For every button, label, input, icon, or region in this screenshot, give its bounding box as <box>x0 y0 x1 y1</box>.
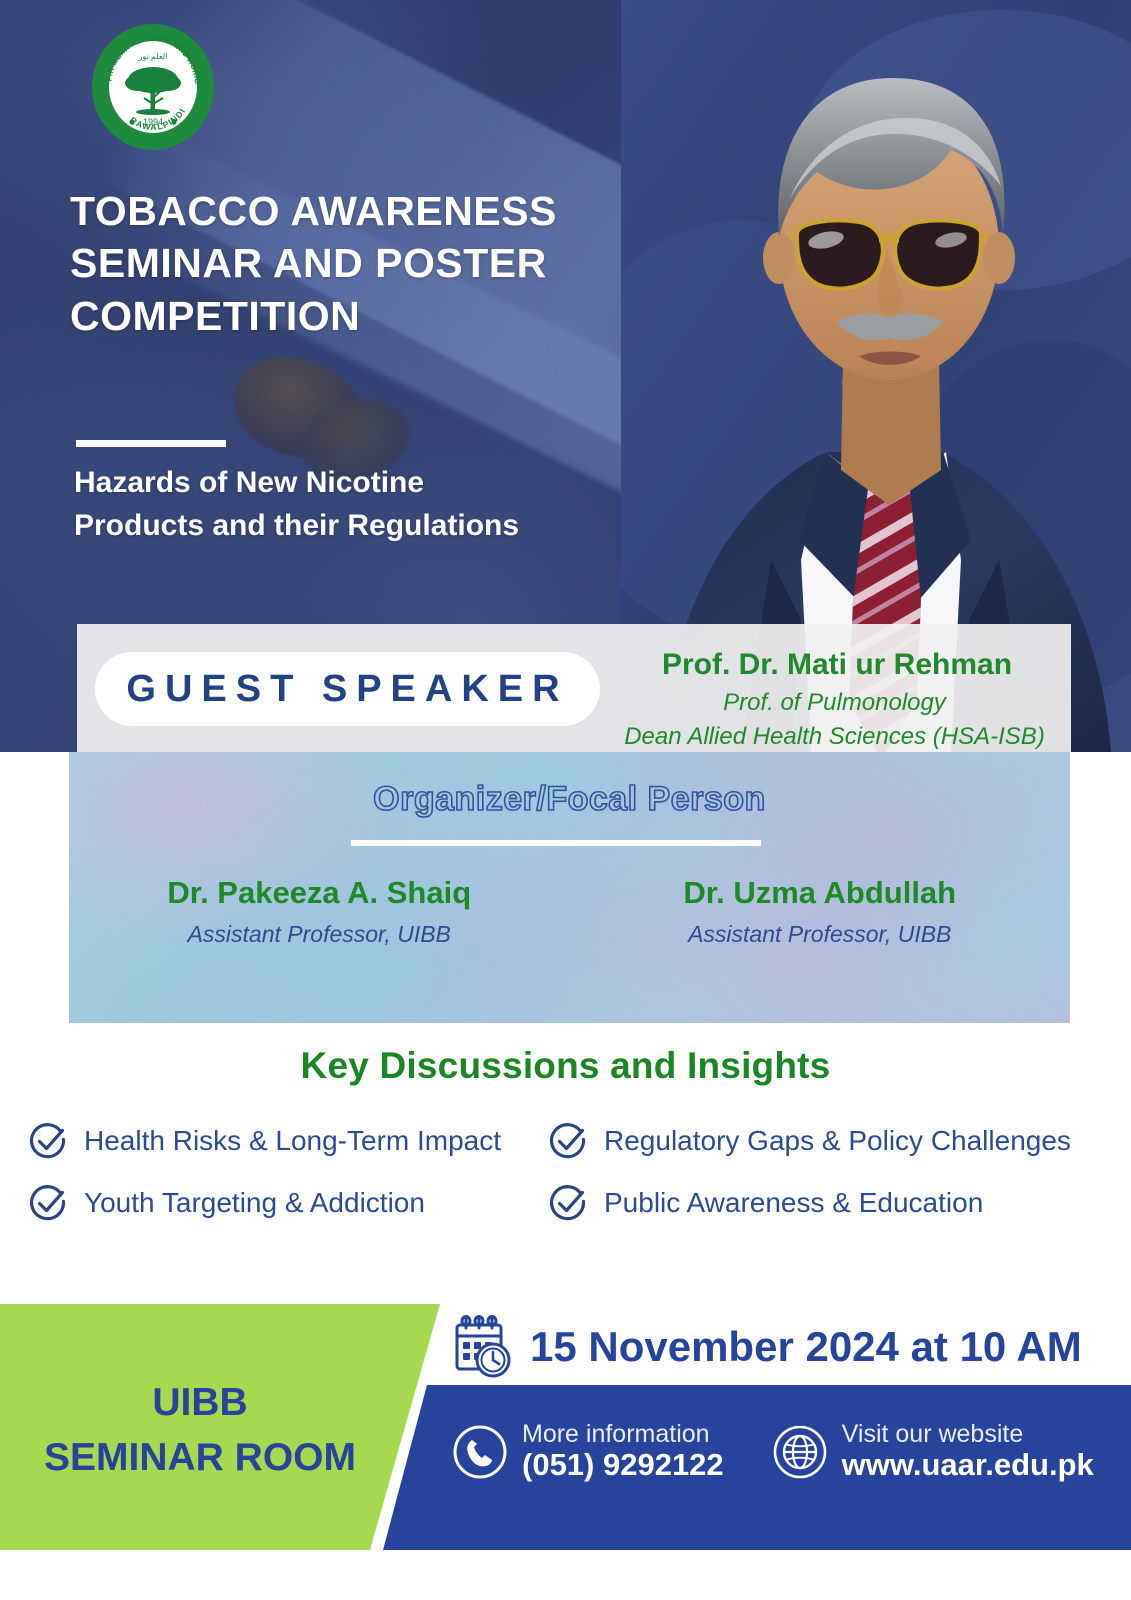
list-item-label: Youth Targeting & Addiction <box>84 1187 425 1219</box>
event-datetime: 15 November 2024 at 10 AM <box>452 1314 1082 1380</box>
key-discussions-section: Key Discussions and Insights Health Risk… <box>0 1045 1131 1223</box>
organizer-name: Dr. Uzma Abdullah <box>570 874 1071 913</box>
guest-speaker-role-line2: Dean Allied Health Sciences (HSA-ISB) <box>607 720 1062 752</box>
organizer-section-title: Organizer/Focal Person <box>69 780 1070 819</box>
list-item: Youth Targeting & Addiction <box>0 1183 520 1223</box>
contact-phone-text: More information (051) 9292122 <box>522 1421 724 1483</box>
list-item-label: Regulatory Gaps & Policy Challenges <box>604 1125 1071 1157</box>
list-item: Regulatory Gaps & Policy Challenges <box>520 1121 1110 1161</box>
list-item: Public Awareness & Education <box>520 1183 1110 1223</box>
organizer-divider <box>351 840 761 846</box>
footer-section: UIBB SEMINAR ROOM <box>0 1304 1131 1600</box>
event-datetime-text: 15 November 2024 at 10 AM <box>530 1323 1082 1371</box>
venue-line2: SEMINAR ROOM <box>0 1431 400 1486</box>
check-circle-icon <box>28 1183 68 1223</box>
venue-text: UIBB SEMINAR ROOM <box>0 1376 400 1485</box>
globe-circle-icon <box>772 1424 828 1480</box>
logo-seal-icon: PIR MEHR ALI SHAH ARID AGRICULTURE UNIVE… <box>92 24 214 150</box>
svg-text:العلم نور: العلم نور <box>138 52 168 61</box>
check-circle-icon <box>548 1121 588 1161</box>
organizer-item: Dr. Uzma Abdullah Assistant Professor, U… <box>570 874 1071 948</box>
list-item: Health Risks & Long-Term Impact <box>0 1121 520 1161</box>
page-title: TOBACCO AWARENESS SEMINAR AND POSTER COM… <box>70 185 630 342</box>
check-circle-icon <box>28 1121 68 1161</box>
organizer-item: Dr. Pakeeza A. Shaiq Assistant Professor… <box>69 874 570 948</box>
guest-speaker-role: Prof. of Pulmonology Dean Allied Health … <box>607 686 1062 752</box>
page-subtitle: Hazards of New Nicotine Products and the… <box>74 462 554 547</box>
guest-speaker-role-line1: Prof. of Pulmonology <box>607 686 1062 720</box>
contact-website[interactable]: Visit our website www.uaar.edu.pk <box>772 1421 1094 1483</box>
svg-text:1994: 1994 <box>143 117 163 127</box>
organizer-designation: Assistant Professor, UIBB <box>69 921 570 948</box>
organizer-section: Organizer/Focal Person Dr. Pakeeza A. Sh… <box>69 752 1070 1023</box>
contact-phone-label: More information <box>522 1420 710 1448</box>
contact-website-text: Visit our website www.uaar.edu.pk <box>842 1421 1094 1483</box>
key-discussions-list: Health Risks & Long-Term Impact Regulato… <box>0 1121 1131 1223</box>
guest-speaker-name: Prof. Dr. Mati ur Rehman <box>617 648 1057 682</box>
guest-speaker-band: GUEST SPEAKER Prof. Dr. Mati ur Rehman P… <box>77 624 1071 752</box>
check-circle-icon <box>548 1183 588 1223</box>
key-discussions-title: Key Discussions and Insights <box>0 1045 1131 1087</box>
calendar-clock-icon <box>452 1314 514 1380</box>
guest-speaker-badge-label: GUEST SPEAKER <box>126 668 568 711</box>
contact-website-label: Visit our website <box>842 1420 1024 1448</box>
contact-phone[interactable]: More information (051) 9292122 <box>452 1421 724 1483</box>
organizer-name: Dr. Pakeeza A. Shaiq <box>69 874 570 913</box>
title-divider <box>76 440 226 447</box>
guest-speaker-badge: GUEST SPEAKER <box>95 652 600 726</box>
university-logo: PIR MEHR ALI SHAH ARID AGRICULTURE UNIVE… <box>92 24 214 150</box>
contact-phone-value: (051) 9292122 <box>522 1447 724 1482</box>
contact-website-value: www.uaar.edu.pk <box>842 1447 1094 1482</box>
list-item-label: Public Awareness & Education <box>604 1187 983 1219</box>
list-item-label: Health Risks & Long-Term Impact <box>84 1125 501 1157</box>
contact-info: More information (051) 9292122 Visit our… <box>452 1421 1094 1483</box>
organizer-designation: Assistant Professor, UIBB <box>570 921 1071 948</box>
venue-line1: UIBB <box>0 1376 400 1431</box>
organizer-list: Dr. Pakeeza A. Shaiq Assistant Professor… <box>69 874 1070 948</box>
hero-section: PIR MEHR ALI SHAH ARID AGRICULTURE UNIVE… <box>0 0 1131 752</box>
phone-circle-icon <box>452 1424 508 1480</box>
